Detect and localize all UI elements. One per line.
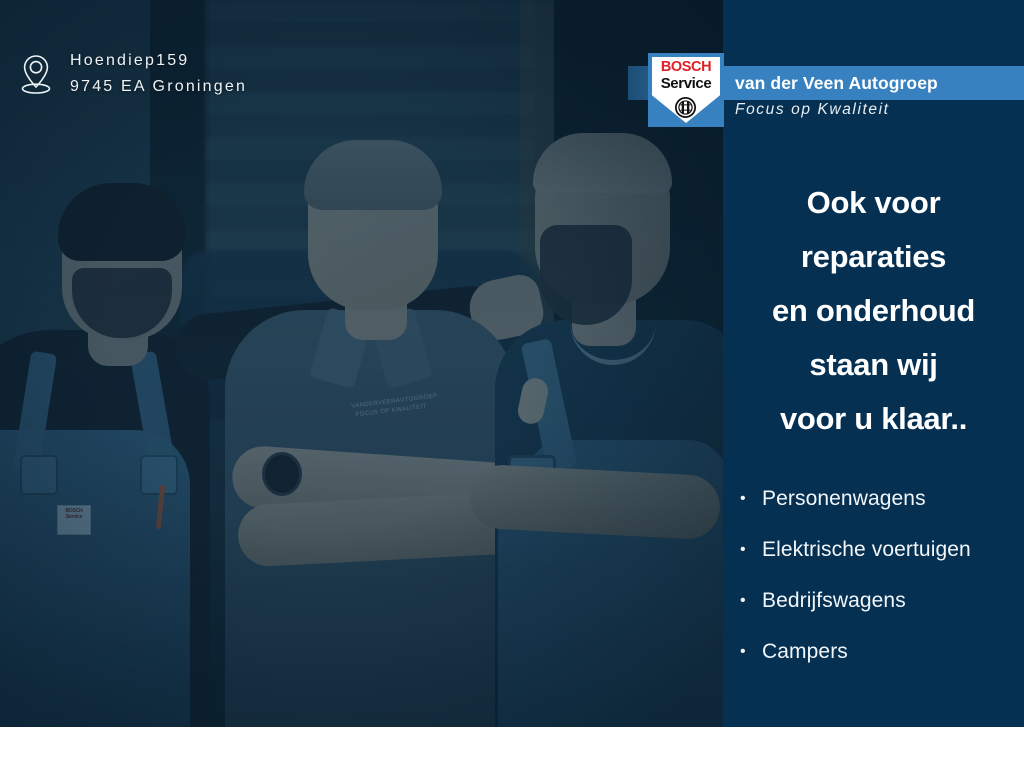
photo-vignette [0, 0, 723, 727]
address-street: Hoendiep159 [70, 48, 247, 74]
location-pin-icon [18, 52, 54, 96]
headline-line-5: voor u klaar.. [723, 392, 1024, 446]
service-list: Personenwagens Elektrische voertuigen Be… [740, 473, 1024, 677]
list-item: Campers [740, 626, 1024, 677]
headline-line-3: en onderhoud [723, 284, 1024, 338]
list-item: Bedrijfswagens [740, 575, 1024, 626]
page-title: Ook voor reparaties en onderhoud staan w… [723, 176, 1024, 446]
bosch-service-logo: BOSCH Service [648, 53, 724, 127]
workshop-team-photo: BOSCH Service VANDERVEENAUTOGROEP FOCUS … [0, 0, 723, 727]
headline-line-2: reparaties [723, 230, 1024, 284]
bosch-logo-wordmark: BOSCH [648, 59, 724, 75]
bosch-logo-service-text: Service [648, 75, 724, 92]
brand-name: van der Veen Autogroep [735, 66, 1015, 100]
bosch-armature-icon [675, 97, 696, 118]
headline-line-1: Ook voor [723, 176, 1024, 230]
address-block: Hoendiep159 9745 EA Groningen [18, 48, 247, 100]
list-item: Elektrische voertuigen [740, 524, 1024, 575]
advertisement-banner: BOSCH Service VANDERVEENAUTOGROEP FOCUS … [0, 0, 1024, 727]
list-item: Personenwagens [740, 473, 1024, 524]
address-text: Hoendiep159 9745 EA Groningen [70, 48, 247, 100]
address-city: 9745 EA Groningen [70, 74, 247, 100]
brand-tagline: Focus op Kwaliteit [735, 101, 1015, 119]
headline-line-4: staan wij [723, 338, 1024, 392]
